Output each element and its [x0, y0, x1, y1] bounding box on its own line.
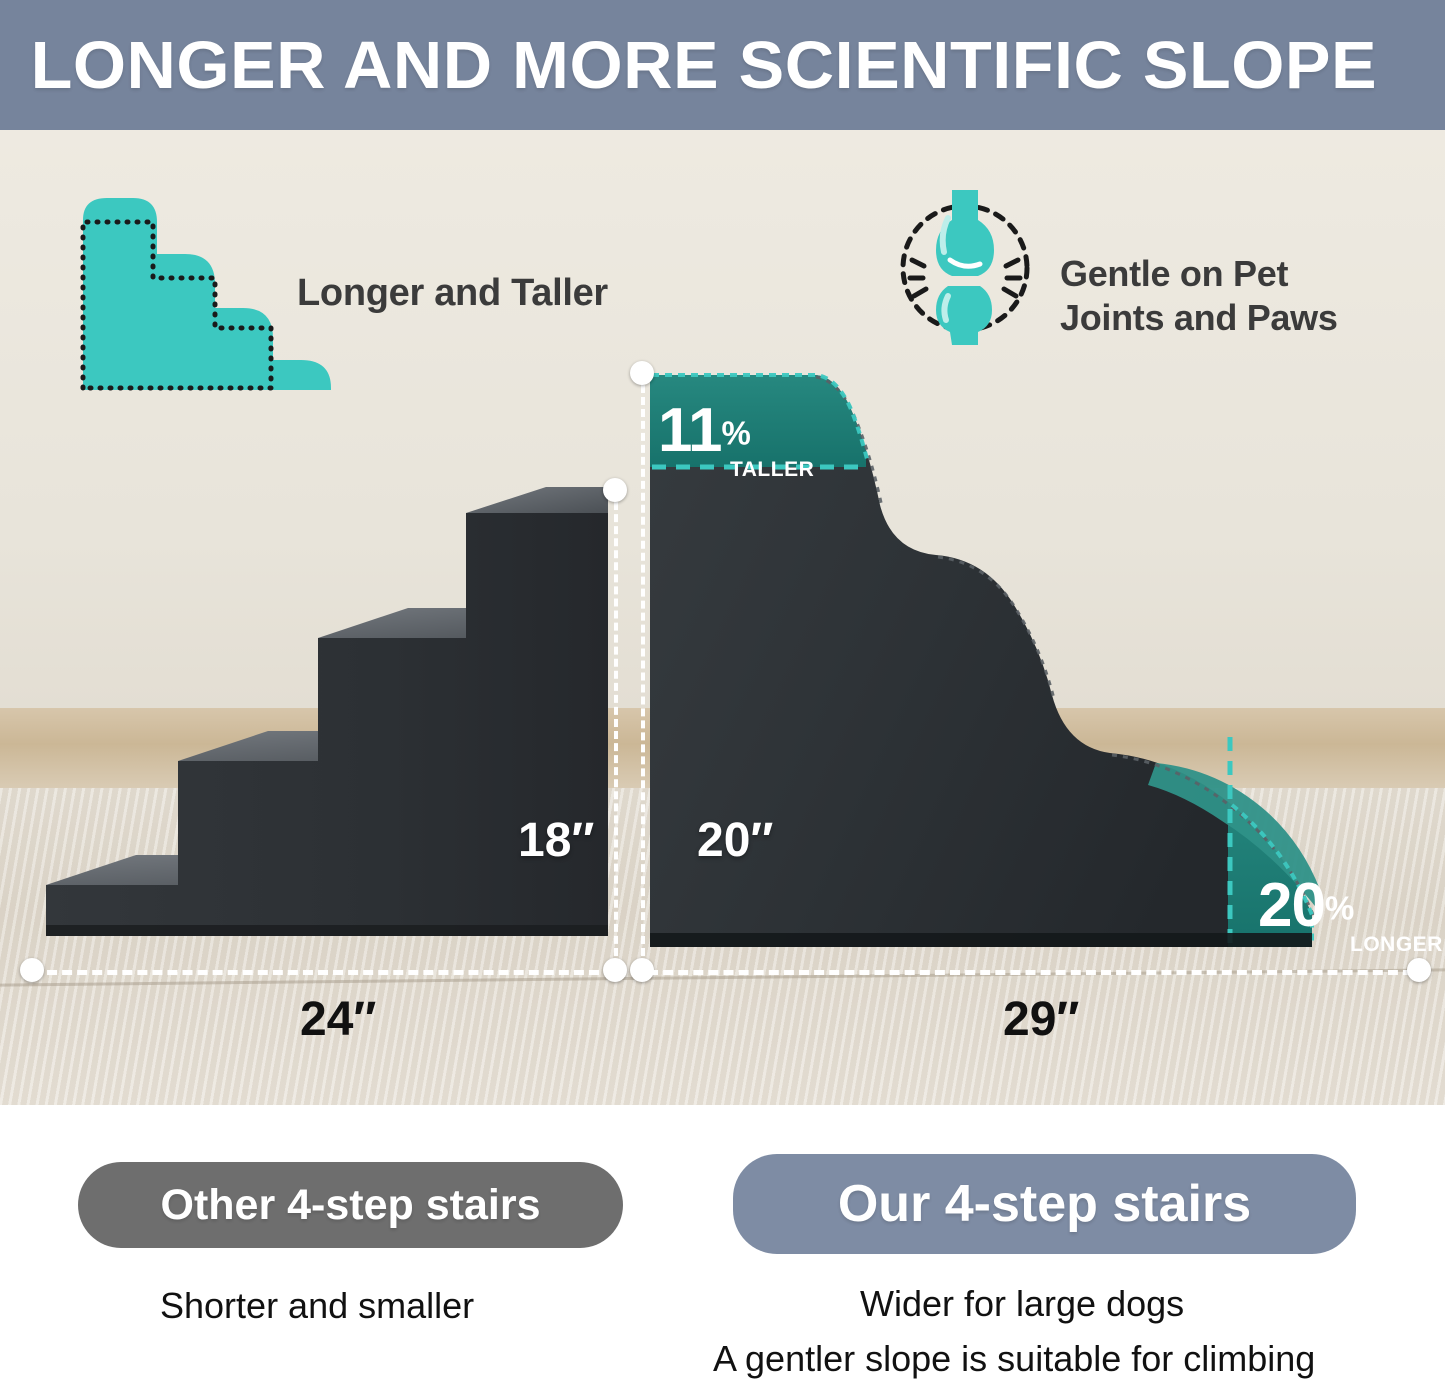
- feature-label-line1: Gentle on Pet: [1060, 253, 1288, 294]
- feature-label-gentle-joints: Gentle on Pet Joints and Paws: [1060, 252, 1338, 340]
- pill-other-stairs: Other 4-step stairs: [78, 1162, 623, 1248]
- dimension-right-width: 29″: [1003, 992, 1079, 1047]
- measure-dot-left-bottom-left: [20, 958, 44, 982]
- comparison-captions: Other 4-step stairs Shorter and smaller …: [0, 1105, 1445, 1399]
- dimension-right-height: 20″: [697, 813, 773, 868]
- caption-our-stairs-line1: Wider for large dogs: [860, 1283, 1184, 1325]
- pill-our-stairs: Our 4-step stairs: [733, 1154, 1356, 1254]
- dimension-left-width: 24″: [300, 992, 376, 1047]
- pet-joint-icon: [890, 190, 1040, 345]
- page-title: LONGER AND MORE SCIENTIFIC SLOPE: [0, 27, 1377, 104]
- measure-dot-right-bottom-right: [1407, 958, 1431, 982]
- other-stairs-product-image: [18, 473, 618, 973]
- caption-other-stairs: Shorter and smaller: [160, 1285, 474, 1327]
- badge-longer-percent: %: [1325, 890, 1354, 927]
- caption-our-stairs-line2: A gentler slope is suitable for climbing: [713, 1338, 1315, 1380]
- measure-dot-right-top: [630, 361, 654, 385]
- badge-longer-sub: LONGER: [1350, 933, 1443, 957]
- measure-line-right-width: [648, 970, 1413, 975]
- badge-longer: 20% LONGER: [1258, 875, 1443, 957]
- feature-label-line2: Joints and Paws: [1060, 297, 1338, 338]
- badge-taller-sub: TALLER: [730, 458, 814, 482]
- measure-dot-left-top: [603, 478, 627, 502]
- badge-taller: 11% TALLER: [658, 400, 814, 482]
- measure-line-left-width: [32, 970, 614, 975]
- feature-label-longer-taller: Longer and Taller: [297, 272, 608, 315]
- product-comparison-scene: Longer and Taller Gentle on Pet Joints a…: [0, 130, 1445, 1105]
- badge-taller-value: 11: [658, 396, 722, 465]
- measure-line-right-height: [641, 373, 645, 968]
- measure-line-left-height: [614, 490, 618, 968]
- badge-longer-value: 20: [1258, 871, 1325, 940]
- badge-taller-percent: %: [722, 415, 751, 452]
- page-header: LONGER AND MORE SCIENTIFIC SLOPE: [0, 0, 1445, 130]
- dimension-left-height: 18″: [518, 813, 594, 868]
